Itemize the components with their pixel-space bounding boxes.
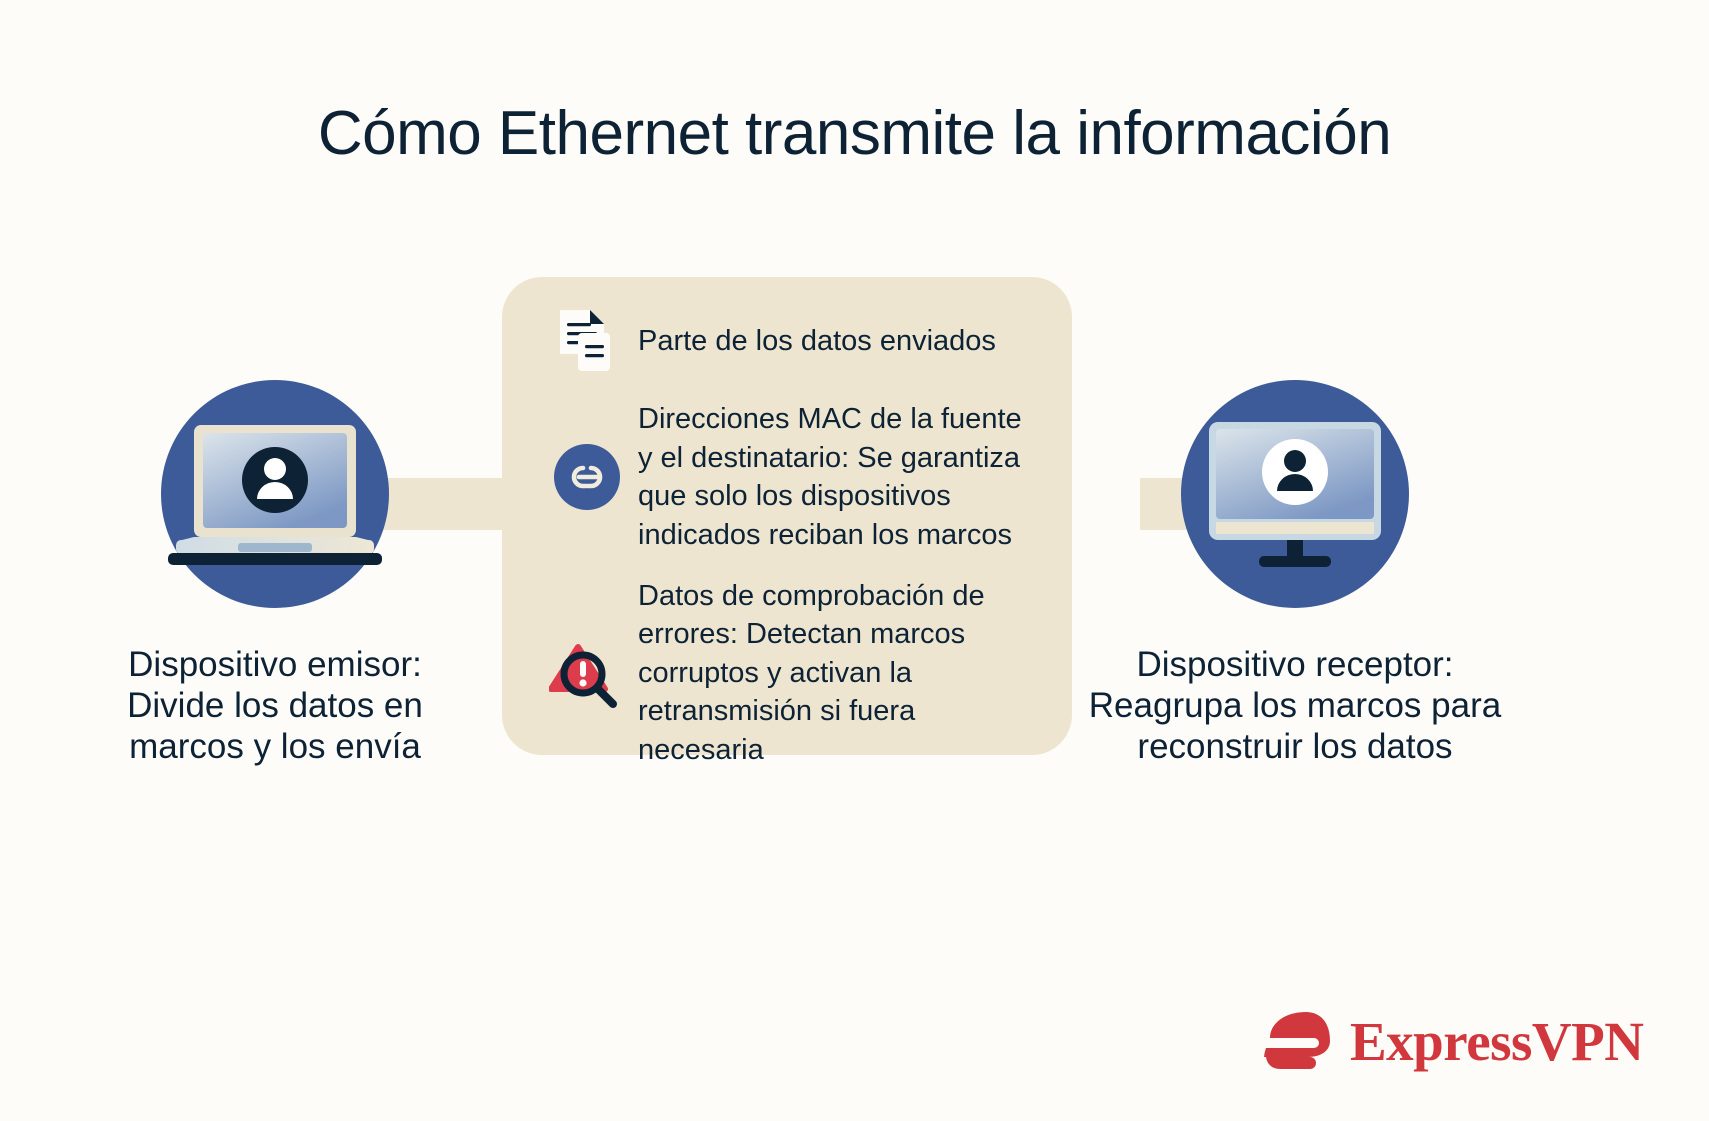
sender-caption-lead: Dispositivo emisor:: [65, 644, 485, 685]
sender-device-group: Dispositivo emisor: Divide los datos en …: [65, 380, 485, 767]
documents-icon: [546, 307, 628, 375]
receiver-device-group: Dispositivo receptor: Reagrupa los marco…: [1085, 380, 1505, 767]
error-warning-magnifier-icon: [546, 635, 628, 711]
receiver-caption: Dispositivo receptor: Reagrupa los marco…: [1085, 644, 1505, 767]
panel-row-text: Parte de los datos enviados: [628, 322, 996, 361]
expressvpn-e-mark-icon: [1262, 1008, 1336, 1074]
receiver-caption-body: Reagrupa los marcos para reconstruir los…: [1085, 685, 1505, 767]
sender-caption: Dispositivo emisor: Divide los datos en …: [65, 644, 485, 767]
sender-caption-body: Divide los datos en marcos y los envía: [65, 685, 485, 767]
receiver-circle: [1181, 380, 1409, 608]
panel-row-text: Datos de comprobación de errores: Detect…: [628, 577, 1036, 770]
page-title: Cómo Ethernet transmite la información: [0, 98, 1709, 169]
laptop-user-icon: [160, 419, 390, 569]
panel-row-text: Direcciones MAC de la fuente y el destin…: [628, 400, 1036, 554]
expressvpn-wordmark: ExpressVPN: [1350, 1014, 1643, 1069]
receiver-caption-lead: Dispositivo receptor:: [1085, 644, 1505, 685]
frame-contents-panel: Parte de los datos enviados Direcciones …: [502, 277, 1072, 755]
sender-circle: [161, 380, 389, 608]
link-chain-icon: [546, 442, 628, 512]
panel-row-mac: Direcciones MAC de la fuente y el destin…: [546, 377, 1036, 577]
monitor-user-icon: [1195, 414, 1395, 574]
panel-row-error-check: Datos de comprobación de errores: Detect…: [546, 573, 1036, 773]
panel-row-data: Parte de los datos enviados: [546, 299, 1036, 383]
expressvpn-logo: ExpressVPN: [1262, 1008, 1643, 1074]
